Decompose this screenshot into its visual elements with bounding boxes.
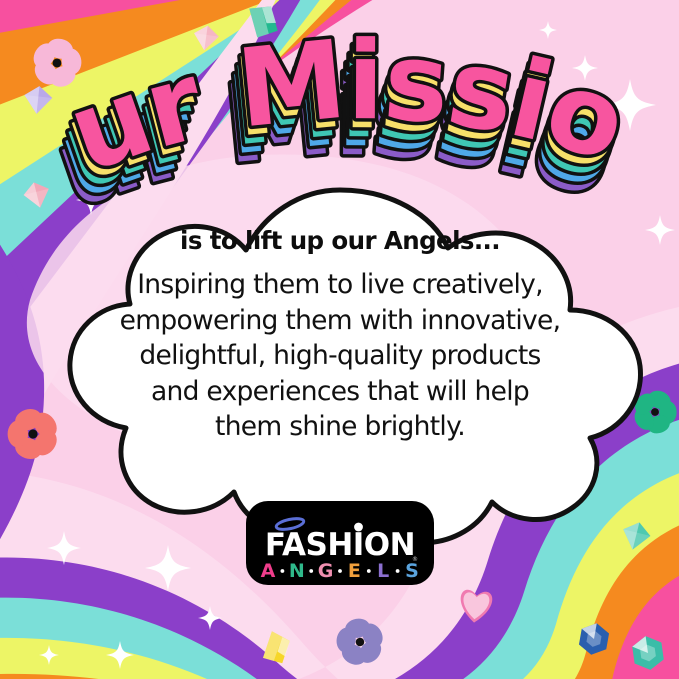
body-line: and experiences that will help xyxy=(78,374,602,410)
logo-letter-separator xyxy=(281,569,285,573)
logo-word-angels: ANGELS xyxy=(261,560,419,582)
flower-purple-bottom xyxy=(330,614,390,672)
body-line: Inspiring them to live creatively, xyxy=(78,267,602,303)
sparkle-bottom-left-tiny xyxy=(39,645,59,665)
logo-letter-separator xyxy=(338,569,342,573)
logo-word-fashion: FASHION xyxy=(265,527,415,563)
logo-letter-a: A xyxy=(261,560,276,582)
logo-letter-separator xyxy=(367,569,371,573)
gem-yellow-bottom xyxy=(261,631,291,665)
gem-pink-top-center xyxy=(192,24,220,52)
gem-lavender-top-left xyxy=(23,85,54,116)
cloud-text-content: is to lift up our Angels... Inspiring th… xyxy=(78,226,602,445)
cloud-callout: is to lift up our Angels... Inspiring th… xyxy=(18,178,662,550)
mission-poster: Our MissionOur MissionOur MissionOur Mis… xyxy=(0,0,679,679)
body-line: empowering them with innovative, xyxy=(78,303,602,339)
heart-pink-bottom xyxy=(458,589,493,624)
logo-letter-n: N xyxy=(289,560,305,582)
sparkle-bottom-left-large xyxy=(145,545,191,591)
registered-mark: ® xyxy=(412,556,418,563)
sparkle-top-right-tiny xyxy=(539,21,557,39)
logo-letter-g: G xyxy=(318,560,334,582)
logo-letter-separator xyxy=(309,569,313,573)
body-line: delightful, high-quality products xyxy=(78,338,602,374)
sparkle-top-right-small xyxy=(572,55,598,81)
sparkle-bottom-left-small xyxy=(198,606,222,630)
logo-letter-separator xyxy=(396,569,400,573)
logo-letter-l: L xyxy=(377,560,389,582)
fashion-angels-logo: FASHION ANGELS ® xyxy=(246,501,434,585)
gem-green-top-center xyxy=(249,4,278,38)
flower-pink-top-left xyxy=(25,33,89,95)
cloud-body-text: Inspiring them to live creatively,empowe… xyxy=(78,267,602,445)
gem-teal-bottom-right xyxy=(631,634,665,672)
fashion-angels-logo-badge[interactable]: FASHION ANGELS ® xyxy=(246,501,434,585)
body-line: them shine brightly. xyxy=(78,409,602,445)
cloud-headline: is to lift up our Angels... xyxy=(78,226,602,255)
logo-letter-e: E xyxy=(348,560,361,582)
sparkle-top-right-large xyxy=(604,79,656,131)
logo-letter-s: S xyxy=(405,560,419,582)
sparkle-bottom-center xyxy=(106,641,134,669)
gem-blue-bottom-right xyxy=(578,621,611,657)
